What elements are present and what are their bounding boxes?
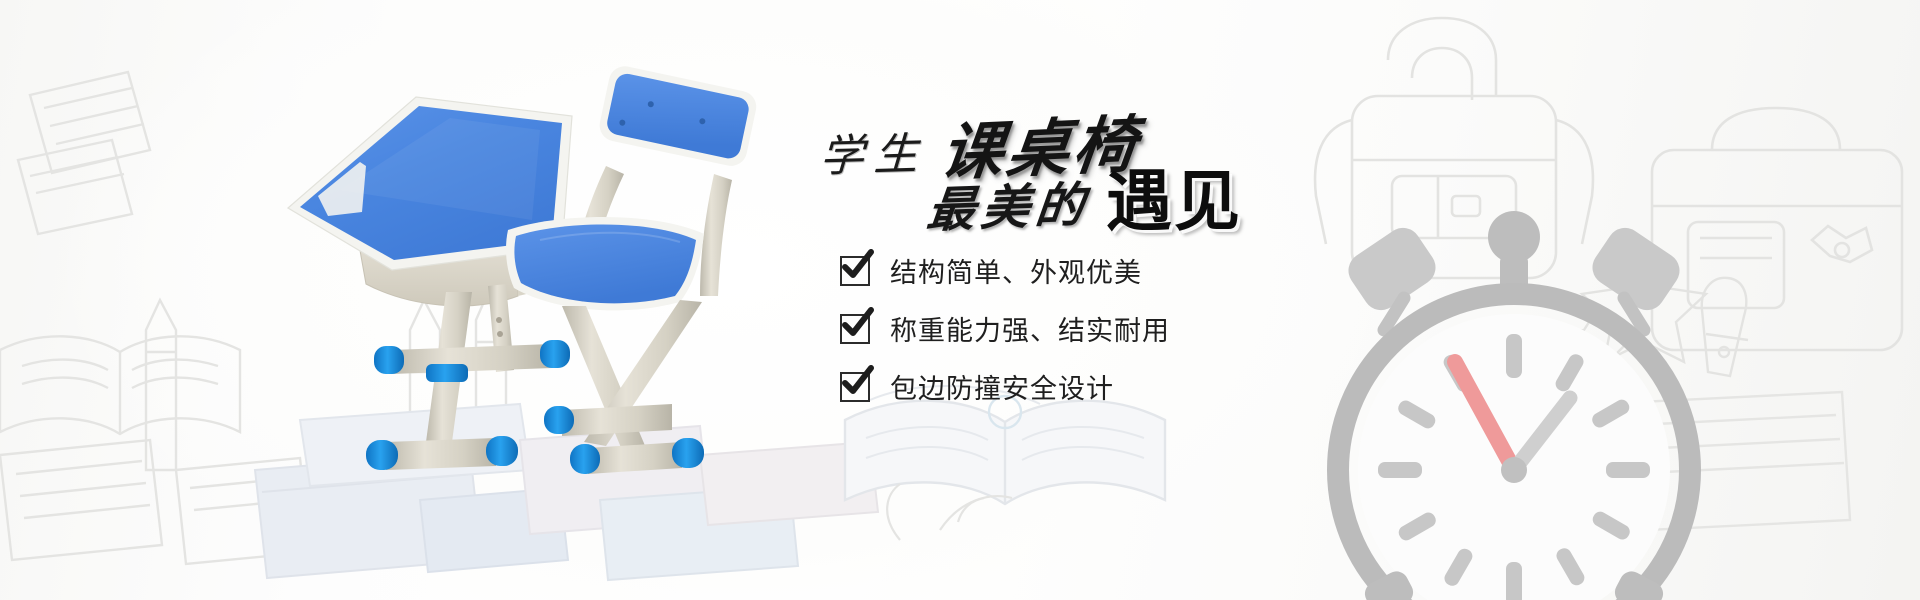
headline-block: 学生 课桌椅 最美的 遇见 (820, 90, 1440, 240)
left-notebook-art (18, 72, 150, 234)
feature-label: 结构简单、外观优美 (890, 251, 1142, 290)
checkbox-checked-icon (840, 314, 870, 344)
checkbox-checked-icon (840, 256, 870, 286)
headline-brush-text-2: 最美的 (924, 165, 1094, 241)
list-item: 包边防撞安全设计 (840, 364, 1170, 409)
headline-line-2: 最美的 遇见 (928, 168, 1242, 238)
feature-label: 包边防撞安全设计 (890, 367, 1114, 406)
promo-banner: 学生 课桌椅 最美的 遇见 结构简单、外观优美 称 (0, 0, 1920, 600)
feature-list: 结构简单、外观优美 称重能力强、结实耐用 包边防撞安全设计 (840, 248, 1170, 422)
suitcase-art (1652, 108, 1902, 350)
right-pen-art (1702, 278, 1748, 376)
headline-plain-text: 学生 (819, 118, 930, 185)
alarm-clock-art (1338, 211, 1690, 600)
feature-label: 称重能力强、结实耐用 (890, 309, 1170, 348)
headline: 学生 课桌椅 最美的 遇见 (820, 90, 1440, 240)
list-item: 结构简单、外观优美 (840, 248, 1170, 293)
left-open-book-art (0, 336, 240, 434)
checkbox-checked-icon (840, 372, 870, 402)
student-desk-and-chair-photo (300, 70, 820, 490)
headline-bold-text: 遇见 (1106, 169, 1242, 235)
list-item: 称重能力强、结实耐用 (840, 306, 1170, 351)
